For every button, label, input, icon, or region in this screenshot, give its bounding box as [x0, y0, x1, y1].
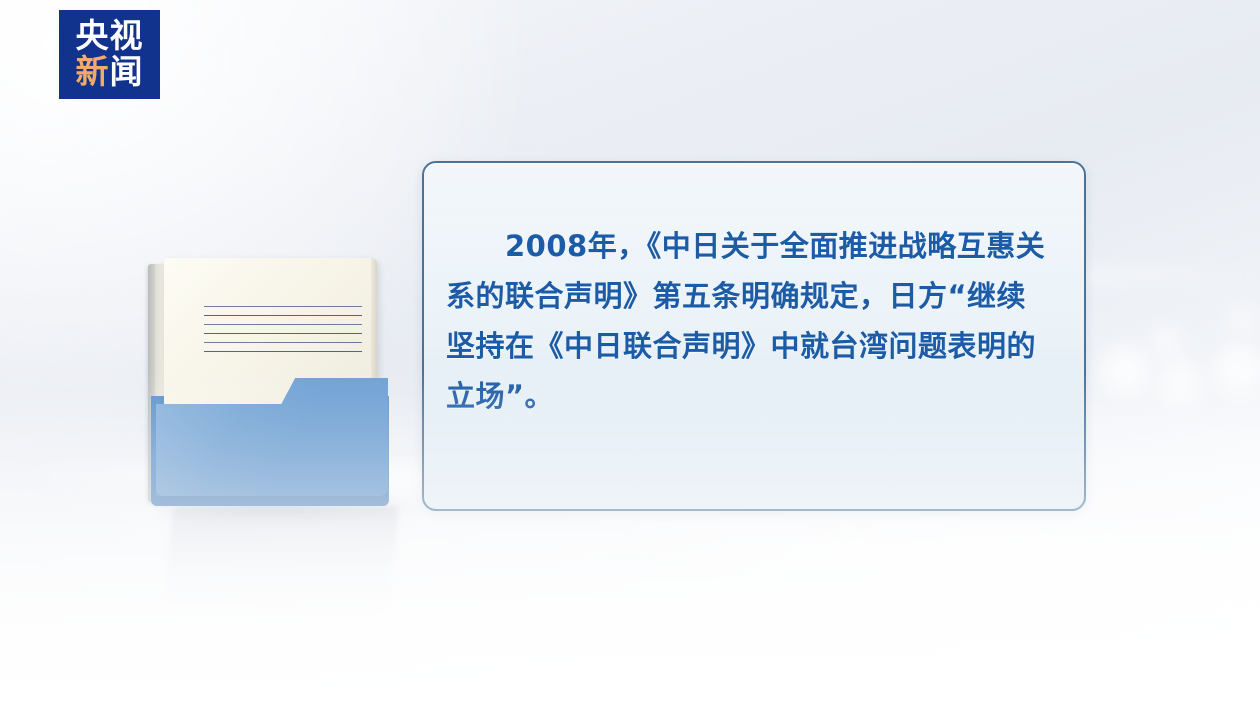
screenshot-stage: 央视 新闻 2008年，《中日关于全面推进战略互惠关 系的联合声明》第 [0, 0, 1260, 709]
background-bokeh-light [1222, 300, 1260, 340]
document-rule-lines [204, 306, 362, 356]
statement-line: 坚持在《中日联合声明》中就台湾问题表明的 [446, 321, 1054, 371]
statement-line: 2008年，《中日关于全面推进战略互惠关 [446, 221, 1054, 271]
document-rule-line [204, 324, 362, 325]
statement-card-body: 2008年，《中日关于全面推进战略互惠关 系的联合声明》第五条明确规定，日方“继… [424, 163, 1084, 421]
statement-line: 立场”。 [446, 371, 1054, 421]
document-rule-line [204, 315, 362, 316]
statement-card: 2008年，《中日关于全面推进战略互惠关 系的联合声明》第五条明确规定，日方“继… [422, 161, 1086, 511]
document-folder-reflection [163, 506, 400, 610]
background-bokeh-light [1214, 578, 1260, 630]
statement-line: 系的联合声明》第五条明确规定，日方“继续 [446, 271, 1054, 321]
background-bokeh-light [1144, 320, 1188, 364]
background-light-streak [620, 540, 1260, 562]
document-rule-line [204, 333, 362, 334]
logo-line-xinwen: 新闻 [76, 54, 144, 90]
logo-line-yangshi: 央视 [76, 18, 144, 54]
document-rule-line [204, 306, 362, 307]
logo-char-xin: 新 [76, 52, 110, 91]
document-folder-icon [148, 258, 398, 510]
cctv-news-logo: 央视 新闻 [59, 10, 160, 99]
document-rule-line [204, 342, 362, 343]
logo-char-wen: 闻 [110, 52, 144, 91]
document-rule-line [204, 351, 362, 352]
background-bokeh-light [1152, 556, 1212, 614]
